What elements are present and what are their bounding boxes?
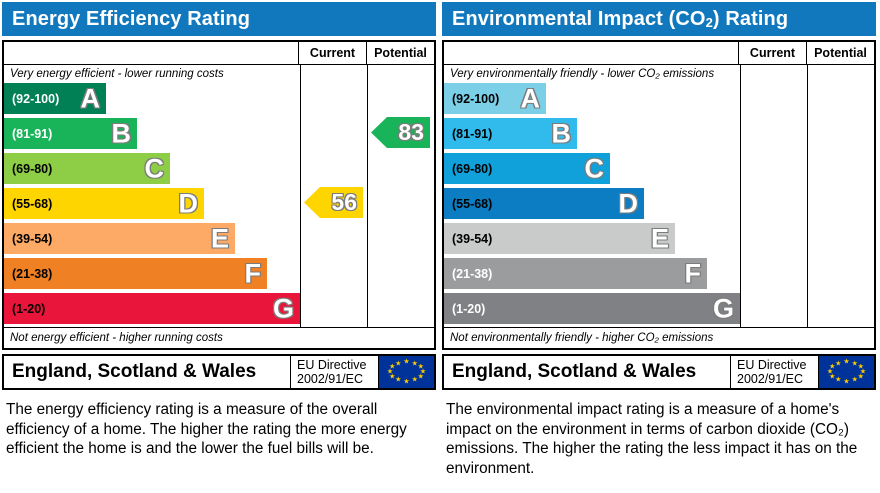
band-letter-label: D [179,190,199,217]
band-letter-label: C [585,155,605,182]
band-letter-label: F [245,260,262,287]
rating-row [741,117,807,148]
band-c: (69-80)C [444,153,610,184]
rating-row [808,82,874,113]
band-g: (1-20)G [4,293,300,324]
rating-row [808,292,874,323]
panel-title-text: Environmental Impact (CO [452,8,706,31]
chart-body: Very energy efficient - lower running co… [4,65,434,327]
epc-panel-environmental: Environmental Impact (CO2) RatingCurrent… [440,0,880,478]
band-row: (1-20)G [444,293,740,324]
band-row: (55-68)D [444,188,740,219]
rating-row [368,292,434,323]
band-row: (55-68)D [4,188,300,219]
eu-star-icon: ★ [852,377,858,384]
band-row: (39-54)E [4,223,300,254]
country-label: England, Scotland & Wales [4,356,290,388]
band-range-label: (81-91) [12,127,52,141]
band-d: (55-68)D [4,188,204,219]
directive-line-1: EU Directive [297,358,378,372]
rating-row [301,117,367,148]
rating-row [808,187,874,218]
chart-column-headers: CurrentPotential [4,42,434,65]
rating-rows-current: 56 [301,82,367,323]
country-label: England, Scotland & Wales [444,356,730,388]
rating-chart-environmental: CurrentPotentialVery environmentally fri… [442,40,876,350]
band-row: (92-100)A [444,83,740,114]
rating-row [301,292,367,323]
band-range-label: (21-38) [452,267,492,281]
band-column: Very environmentally friendly - lower CO… [444,65,740,327]
rating-row [808,152,874,183]
band-b: (81-91)B [4,118,137,149]
band-range-label: (69-80) [12,162,52,176]
band-letter-label: A [81,85,101,112]
column-header-potential: Potential [366,42,434,64]
rating-row [301,222,367,253]
band-range-label: (55-68) [12,197,52,211]
band-range-label: (39-54) [452,232,492,246]
band-row: (69-80)C [4,153,300,184]
band-row: (21-38)F [444,258,740,289]
band-range-label: (81-91) [452,127,492,141]
directive-line-2: 2002/91/EC [737,372,818,386]
country-directive-strip: England, Scotland & WalesEU Directive200… [442,354,876,390]
bottom-efficiency-note: Not energy efficient - higher running co… [4,327,434,348]
rating-row [741,222,807,253]
eu-star-icon: ★ [395,377,401,384]
eu-star-icon: ★ [835,360,841,367]
band-letter-label: G [273,295,294,322]
eu-star-icon: ★ [403,378,409,385]
meter-note-spacer [808,65,874,82]
rating-row [368,152,434,183]
band-letter-label: E [651,225,669,252]
rating-value-potential: 83 [398,121,424,144]
panel-title-text: Energy Efficiency Rating [12,8,250,31]
eu-star-icon: ★ [403,359,409,366]
meter-column-current [740,65,807,327]
column-header-spacer [4,42,298,64]
column-header-current: Current [298,42,366,64]
band-range-label: (1-20) [452,302,485,316]
eu-flag-icon: ★★★★★★★★★★★★ [378,356,434,388]
rating-row [741,152,807,183]
rating-row [741,292,807,323]
band-row: (39-54)E [444,223,740,254]
band-letter-label: A [521,85,541,112]
rating-rows-potential [808,82,874,323]
rating-row [368,257,434,288]
top-efficiency-note: Very environmentally friendly - lower CO… [444,65,740,82]
rating-rows-current [741,82,807,323]
band-row: (1-20)G [4,293,300,324]
column-header-current: Current [738,42,806,64]
column-header-potential: Potential [806,42,874,64]
panel-title-environmental: Environmental Impact (CO2) Rating [442,2,876,36]
eu-star-icon: ★ [835,377,841,384]
band-range-label: (92-100) [12,92,59,106]
eu-star-icon: ★ [858,373,864,380]
chart-column-headers: CurrentPotential [444,42,874,65]
band-letter-label: G [713,295,734,322]
band-letter-label: C [145,155,165,182]
eu-flag-icon: ★★★★★★★★★★★★ [818,356,874,388]
rating-row [741,82,807,113]
rating-row [368,82,434,113]
eu-directive-label: EU Directive2002/91/EC [730,356,818,388]
band-row: (81-91)B [444,118,740,149]
eu-star-icon: ★ [395,360,401,367]
band-e: (39-54)E [4,223,235,254]
meter-column-potential: 83 [367,65,434,327]
band-f: (21-38)F [4,258,267,289]
band-g: (1-20)G [444,293,740,324]
rating-row [808,257,874,288]
band-range-label: (55-68) [452,197,492,211]
rating-row [301,82,367,113]
panel-title-subscript: 2 [706,15,713,30]
band-f: (21-38)F [444,258,707,289]
band-b: (81-91)B [444,118,577,149]
bottom-efficiency-note: Not environmentally friendly - higher CO… [444,327,874,348]
band-list: (92-100)A(81-91)B(69-80)C(55-68)D(39-54)… [444,82,740,326]
band-range-label: (92-100) [452,92,499,106]
band-letter-label: F [685,260,702,287]
band-column: Very energy efficient - lower running co… [4,65,300,327]
rating-value-current: 56 [331,191,357,214]
band-letter-label: D [619,190,639,217]
rating-row [741,187,807,218]
eu-star-icon: ★ [843,378,849,385]
band-range-label: (69-80) [452,162,492,176]
eu-star-icon: ★ [843,359,849,366]
rating-row [808,222,874,253]
country-directive-strip: England, Scotland & WalesEU Directive200… [2,354,436,390]
rating-row [808,117,874,148]
band-letter-label: B [552,120,572,147]
band-list: (92-100)A(81-91)B(69-80)C(55-68)D(39-54)… [4,82,300,326]
chart-body: Very environmentally friendly - lower CO… [444,65,874,327]
meter-note-spacer [368,65,434,82]
band-a: (92-100)A [444,83,546,114]
panel-description-energy: The energy efficiency rating is a measur… [6,400,432,459]
rating-row [741,257,807,288]
directive-line-2: 2002/91/EC [297,372,378,386]
eu-star-icon: ★ [418,373,424,380]
band-range-label: (39-54) [12,232,52,246]
band-letter-label: B [112,120,132,147]
band-c: (69-80)C [4,153,170,184]
rating-row [301,257,367,288]
band-row: (92-100)A [4,83,300,114]
column-header-spacer [444,42,738,64]
band-row: (69-80)C [444,153,740,184]
band-range-label: (21-38) [12,267,52,281]
band-row: (21-38)F [4,258,300,289]
band-letter-label: E [211,225,229,252]
band-e: (39-54)E [444,223,675,254]
panel-description-environmental: The environmental impact rating is a mea… [446,400,872,478]
rating-row [368,187,434,218]
meter-note-spacer [301,65,367,82]
band-row: (81-91)B [4,118,300,149]
meter-note-spacer [741,65,807,82]
rating-rows-potential: 83 [368,82,434,323]
meter-column-potential [807,65,874,327]
directive-line-1: EU Directive [737,358,818,372]
top-efficiency-note: Very energy efficient - lower running co… [4,65,300,82]
panel-title-energy: Energy Efficiency Rating [2,2,436,36]
rating-row [368,222,434,253]
eu-directive-label: EU Directive2002/91/EC [290,356,378,388]
epc-panel-energy: Energy Efficiency RatingCurrentPotential… [0,0,440,478]
panel-title-suffix: ) Rating [713,8,788,31]
band-range-label: (1-20) [12,302,45,316]
rating-row [301,152,367,183]
meter-column-current: 56 [300,65,367,327]
eu-star-icon: ★ [412,377,418,384]
rating-chart-energy: CurrentPotentialVery energy efficient - … [2,40,436,350]
band-a: (92-100)A [4,83,106,114]
band-d: (55-68)D [444,188,644,219]
epc-certificate: Energy Efficiency RatingCurrentPotential… [0,0,880,478]
